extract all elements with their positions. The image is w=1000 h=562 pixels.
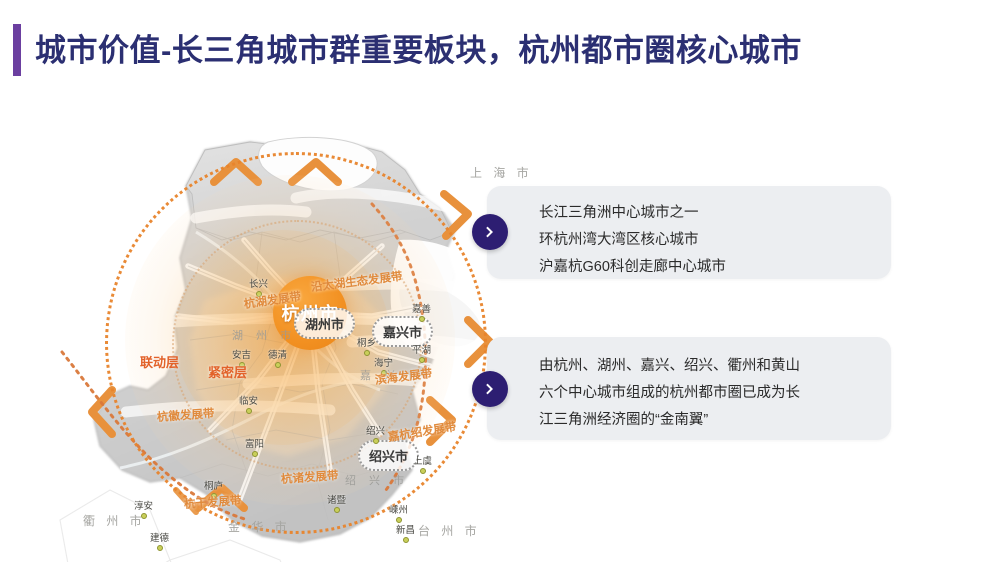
county-label-11: 平湖 [412,342,431,363]
prefecture-watermark-2: 绍 兴 市 [345,472,409,488]
county-marker-dot-icon [157,545,163,551]
city-bubble-0[interactable]: 湖州市 [294,308,355,339]
county-marker-dot-icon [420,468,426,474]
county-label-9: 桐乡 [357,335,376,356]
county-marker-dot-icon [419,357,425,363]
outer-prefecture-1: 衢 州 市 [83,512,146,529]
callout-1-line-2: 环杭州湾大湾区核心城市 [539,227,869,254]
chevron-right-icon[interactable] [472,214,508,250]
county-marker-dot-icon [419,316,425,322]
county-label-2: 德清 [268,347,287,368]
county-label-15: 嵊州 [389,502,408,523]
county-label-7: 建德 [150,530,169,551]
map-container: 杭州市 湖州市嘉兴市绍兴市 长兴安吉德清临安富阳桐庐淳安建德诸暨桐乡嘉善平湖海宁… [0,90,1000,562]
callout-2-line-2: 六个中心城市组成的杭州都市圈已成为长 [539,380,869,407]
county-label-13: 绍兴 [366,423,385,444]
outer-prefecture-2: 金 华 市 [228,518,291,535]
callout-box-2: 由杭州、湖州、嘉兴、绍兴、衢州和黄山 六个中心城市组成的杭州都市圈已成为长 江三… [487,337,891,440]
title-text: 城市价值-长三角城市群重要板块，杭州都市圈核心城市 [35,35,802,66]
county-label-4: 富阳 [245,436,264,457]
county-marker-dot-icon [275,362,281,368]
outer-prefecture-0: 上 海 市 [470,164,533,181]
callout-1-line-3: 沪嘉杭G60科创走廊中心城市 [539,254,869,281]
callout-box-1: 长江三角洲中心城市之一 环杭州湾大湾区核心城市 沪嘉杭G60科创走廊中心城市 [487,186,891,279]
county-marker-dot-icon [334,507,340,513]
county-label-3: 临安 [239,393,258,414]
county-marker-dot-icon [373,438,379,444]
callout-1-line-1: 长江三角洲中心城市之一 [539,200,869,227]
county-marker-dot-icon [246,408,252,414]
county-label-10: 嘉善 [412,301,431,322]
outer-prefecture-3: 台 州 市 [418,522,481,539]
circle-layer-label-link: 联动层 [140,352,179,371]
callout-2-line-1: 由杭州、湖州、嘉兴、绍兴、衢州和黄山 [539,353,869,380]
map-base-graphic [0,90,1000,562]
county-marker-dot-icon [252,451,258,457]
county-label-16: 新昌 [396,522,415,543]
page-title: 城市价值-长三角城市群重要板块，杭州都市圈核心城市 [0,22,802,78]
county-label-14: 上虞 [413,453,432,474]
prefecture-watermark-0: 湖 州 市 [232,327,296,343]
chevron-right-icon[interactable] [472,371,508,407]
county-marker-dot-icon [403,537,409,543]
slide-root: 城市价值-长三角城市群重要板块，杭州都市圈核心城市 [0,0,1000,562]
county-label-8: 诸暨 [327,492,346,513]
county-marker-dot-icon [364,350,370,356]
circle-layer-label-tight: 紧密层 [208,362,247,381]
callout-2-line-3: 江三角洲经济圈的“金南翼” [539,407,869,434]
title-accent-bar [13,24,21,76]
